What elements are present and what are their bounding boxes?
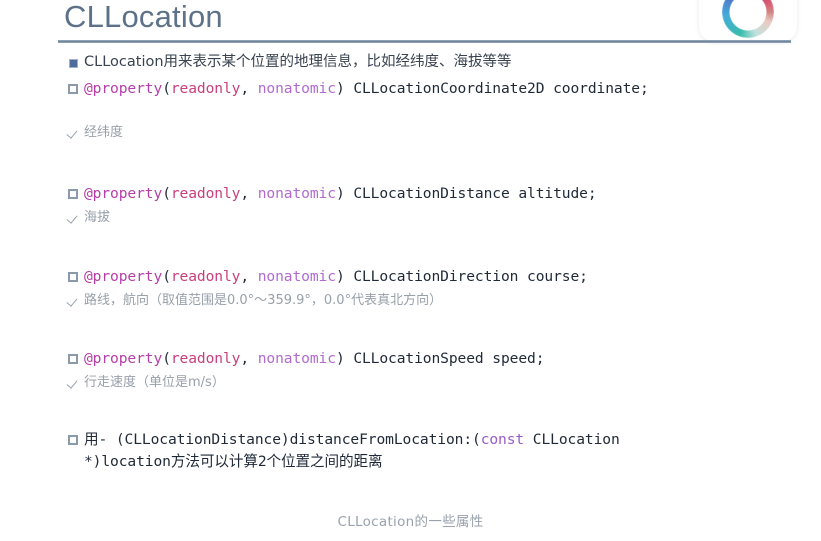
- token-comma: ,: [240, 185, 257, 202]
- code-coordinate: @property(readonly, nonatomic) CLLocatio…: [84, 78, 649, 100]
- token-open-paren: (: [162, 350, 171, 367]
- token-close-paren: ): [336, 268, 353, 285]
- title-divider: [58, 40, 791, 43]
- token-comma: ,: [240, 80, 257, 97]
- hollow-square-bullet-icon: [62, 183, 84, 199]
- filled-square-bullet-icon: [62, 52, 84, 68]
- hollow-square-bullet-icon: [62, 266, 84, 282]
- code-speed: @property(readonly, nonatomic) CLLocatio…: [84, 348, 544, 370]
- list-item-course: @property(readonly, nonatomic) CLLocatio…: [62, 266, 588, 288]
- token-type: CLLocationSpeed: [353, 350, 483, 367]
- token-nonatomic: nonatomic: [258, 268, 336, 285]
- code-altitude: @property(readonly, nonatomic) CLLocatio…: [84, 183, 597, 205]
- list-item-distance-method: 用- (CLLocationDistance)distanceFromLocat…: [62, 429, 620, 473]
- check-mark-icon: [62, 291, 84, 307]
- check-mark-icon: [62, 373, 84, 389]
- token-readonly: readonly: [171, 268, 241, 285]
- token-type: CLLocationDirection: [353, 268, 518, 285]
- list-item-intro: CLLocation用来表示某个位置的地理信息，比如经纬度、海拔等等: [62, 52, 512, 73]
- hollow-square-bullet-icon: [62, 78, 84, 94]
- page-title: CLLocation: [64, 0, 223, 35]
- list-item-coordinate: @property(readonly, nonatomic) CLLocatio…: [62, 78, 649, 100]
- token-name: speed;: [484, 350, 545, 367]
- token-method-prefix: 用- (CLLocationDistance)distanceFromLocat…: [84, 431, 481, 448]
- list-item-altitude: @property(readonly, nonatomic) CLLocatio…: [62, 183, 597, 205]
- intro-text: CLLocation用来表示某个位置的地理信息，比如经纬度、海拔等等: [84, 52, 512, 73]
- token-close-paren: ): [336, 350, 353, 367]
- hollow-square-bullet-icon: [62, 429, 84, 445]
- note-course: 路线，航向（取值范围是0.0°～359.9°，0.0°代表真北方向）: [62, 291, 442, 310]
- list-item-speed: @property(readonly, nonatomic) CLLocatio…: [62, 348, 544, 370]
- token-property: @property: [84, 80, 162, 97]
- code-distance-method: 用- (CLLocationDistance)distanceFromLocat…: [84, 429, 620, 473]
- slide-root: CLLocation CLLocation用来表示某个位置的地理信息，比如经纬度…: [0, 0, 821, 541]
- slide-caption: CLLocation的一些属性: [0, 510, 821, 530]
- note-altitude: 海拔: [62, 208, 110, 227]
- token-type: CLLocationCoordinate2D: [353, 80, 544, 97]
- note-altitude-text: 海拔: [84, 208, 110, 227]
- check-mark-icon: [62, 123, 84, 139]
- token-nonatomic: nonatomic: [258, 185, 336, 202]
- token-readonly: readonly: [171, 80, 241, 97]
- note-coordinate: 经纬度: [62, 123, 123, 142]
- token-property: @property: [84, 185, 162, 202]
- note-speed-text: 行走速度（单位是m/s）: [84, 373, 225, 392]
- token-name: coordinate;: [544, 80, 648, 97]
- token-comma: ,: [240, 268, 257, 285]
- token-close-paren: ): [336, 185, 353, 202]
- token-open-paren: (: [162, 268, 171, 285]
- token-readonly: readonly: [171, 185, 241, 202]
- token-close-paren: ): [336, 80, 353, 97]
- token-open-paren: (: [162, 185, 171, 202]
- code-course: @property(readonly, nonatomic) CLLocatio…: [84, 266, 588, 288]
- token-name: altitude;: [510, 185, 597, 202]
- token-const: const: [481, 431, 524, 448]
- token-nonatomic: nonatomic: [258, 80, 336, 97]
- token-property: @property: [84, 350, 162, 367]
- note-speed: 行走速度（单位是m/s）: [62, 373, 225, 392]
- token-name: course;: [518, 268, 588, 285]
- token-nonatomic: nonatomic: [258, 350, 336, 367]
- token-readonly: readonly: [171, 350, 241, 367]
- token-type: CLLocationDistance: [353, 185, 509, 202]
- check-mark-icon: [62, 208, 84, 224]
- token-open-paren: (: [162, 80, 171, 97]
- token-property: @property: [84, 268, 162, 285]
- hollow-square-bullet-icon: [62, 348, 84, 364]
- token-comma: ,: [240, 350, 257, 367]
- note-coordinate-text: 经纬度: [84, 123, 123, 142]
- token-method-suffix: 方法可以计算2个位置之间的距离: [171, 453, 383, 470]
- note-course-text: 路线，航向（取值范围是0.0°～359.9°，0.0°代表真北方向）: [84, 291, 442, 310]
